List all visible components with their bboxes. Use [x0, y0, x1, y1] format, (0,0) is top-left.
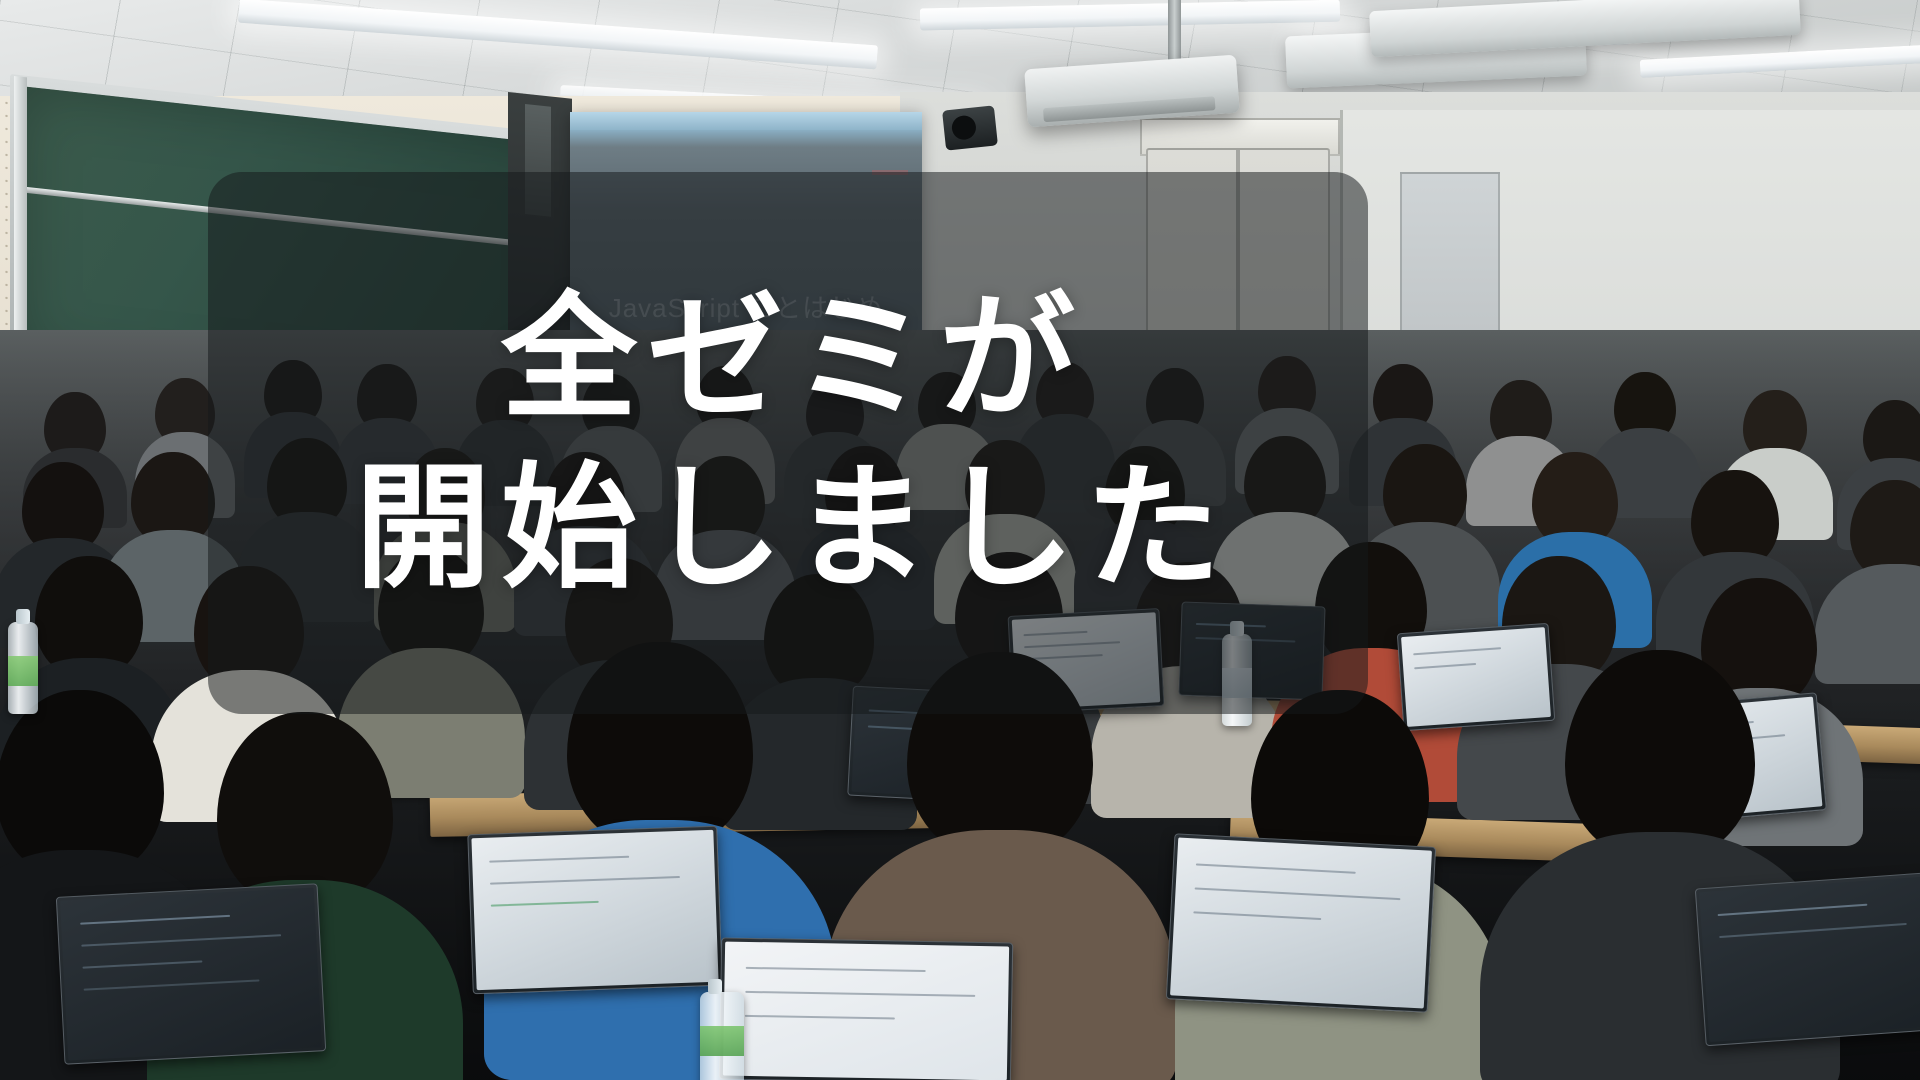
student: [1850, 480, 1920, 650]
wall-window: [1400, 172, 1500, 356]
laptop: [719, 937, 1013, 1080]
laptop: [467, 826, 722, 995]
slide-top-strip: [570, 112, 922, 130]
water-bottle: [700, 992, 744, 1080]
student: [1610, 372, 1680, 502]
ceiling-speaker: [942, 105, 998, 150]
text-scrim-overlay: [208, 172, 1368, 714]
laptop: [1166, 833, 1436, 1012]
bottle-label: [700, 1026, 744, 1056]
bottle-label: [8, 656, 38, 686]
water-bottle: [8, 622, 38, 714]
laptop: [1695, 872, 1920, 1046]
screenshot-root: JavaScript ことはじめ: [0, 0, 1920, 1080]
laptop: [56, 883, 326, 1064]
